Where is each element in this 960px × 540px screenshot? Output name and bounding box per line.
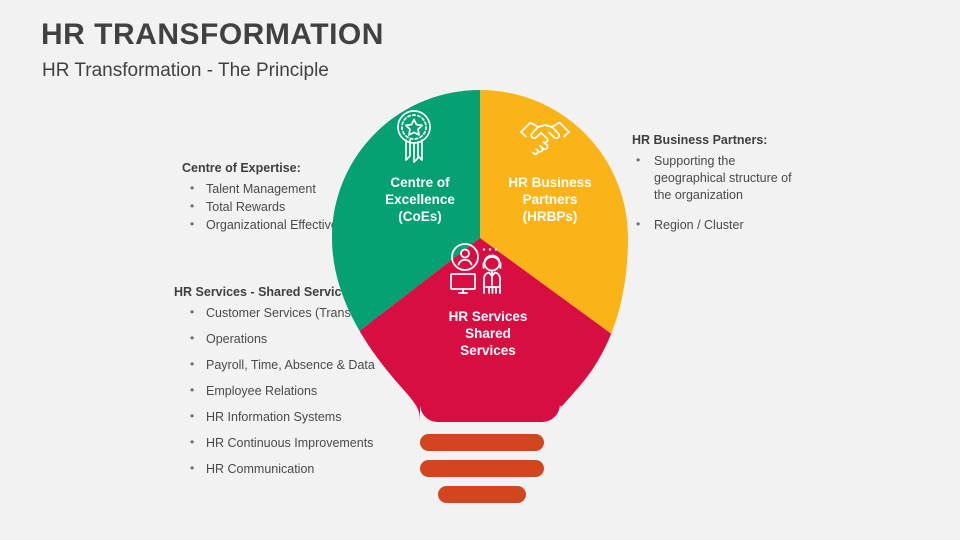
list-item: Region / Cluster xyxy=(632,217,802,234)
page-title: HR TRANSFORMATION xyxy=(41,18,384,52)
lightbulb-svg xyxy=(330,88,640,508)
hr-business-partners-list: Supporting the geographical structure of… xyxy=(632,153,802,234)
hr-business-partners-block: HR Business Partners: Supporting the geo… xyxy=(632,133,802,247)
hr-business-partners-heading: HR Business Partners: xyxy=(632,133,802,147)
page-subtitle: HR Transformation - The Principle xyxy=(42,60,329,82)
list-item: Supporting the geographical structure of… xyxy=(632,153,802,204)
bulb-base-bar-1 xyxy=(420,434,544,451)
bulb-base-bar-3 xyxy=(438,486,526,503)
bulb-base-bar-2 xyxy=(420,460,544,477)
bulb-base xyxy=(420,434,544,503)
lightbulb-diagram: Centre ofExcellence(CoEs) HR BusinessPar… xyxy=(330,88,640,508)
